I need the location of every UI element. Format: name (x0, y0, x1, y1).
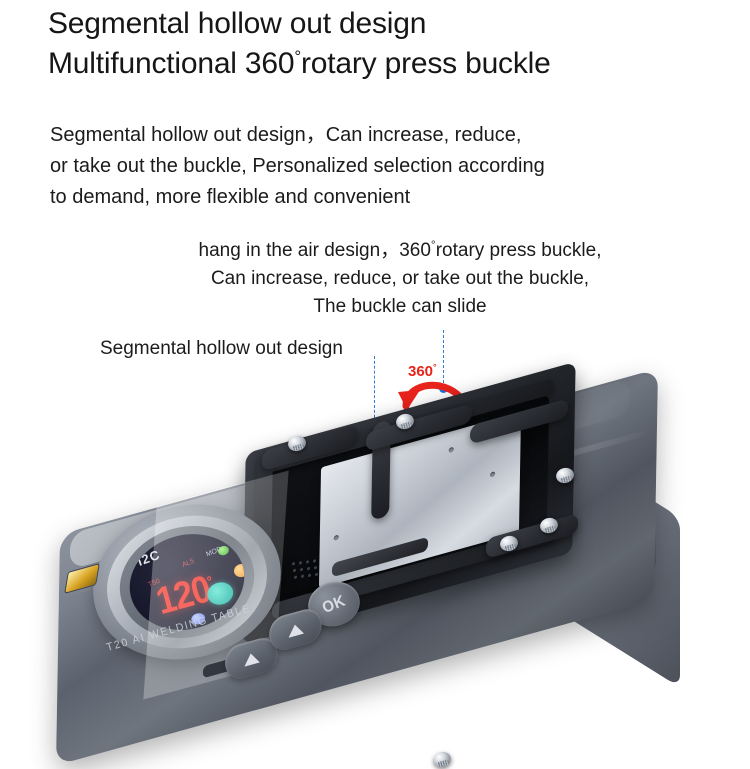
feature-line-3: The buckle can slide (120, 293, 680, 321)
screen-icon-green[interactable] (217, 545, 230, 557)
feature-paragraph: hang in the air design，360°rotary press … (120, 237, 680, 321)
description-line-3: to demand, more flexible and convenient (50, 182, 730, 213)
feature-line-1-post: rotary press buckle, (436, 240, 602, 261)
feature-line-1: hang in the air design，360°rotary press … (120, 237, 680, 265)
headline-line-2: Multifunctional 360°rotary press buckle (48, 44, 738, 84)
headline-line-2-pre: Multifunctional 360 (48, 47, 294, 80)
triangle-up-icon (243, 651, 260, 666)
feature-line-2: Can increase, reduce, or take out the bu… (120, 265, 680, 293)
screen-icon-orange[interactable] (232, 562, 250, 579)
degree-symbol: ° (294, 47, 301, 66)
headline-line-2-post: rotary press buckle (301, 47, 551, 80)
triangle-up-icon (287, 622, 304, 637)
product-marketing-image: Segmental hollow out design Multifunctio… (0, 0, 750, 750)
feature-line-1-pre: hang in the air design，360 (199, 240, 431, 261)
callout-label-hollow-design: Segmental hollow out design (100, 338, 343, 360)
fixture-screw-rotary[interactable] (431, 750, 452, 769)
description-line-1: Segmental hollow out design，Can increase… (50, 120, 730, 151)
headline-line-1: Segmental hollow out design (48, 4, 738, 44)
product-device-image: i2C T50 AL5 MOD 120° T20 AI WELDING TABL… (0, 360, 750, 750)
plate-hole (490, 471, 495, 477)
description-paragraph: Segmental hollow out design，Can increase… (50, 120, 730, 213)
description-line-2: or take out the buckle, Personalized sel… (50, 151, 730, 182)
brand-logo: i2C (135, 547, 162, 569)
page-title: Segmental hollow out design Multifunctio… (48, 4, 738, 84)
plate-hole (449, 447, 454, 453)
screen-label-2: AL5 (181, 558, 195, 569)
plate-hole (334, 535, 339, 541)
